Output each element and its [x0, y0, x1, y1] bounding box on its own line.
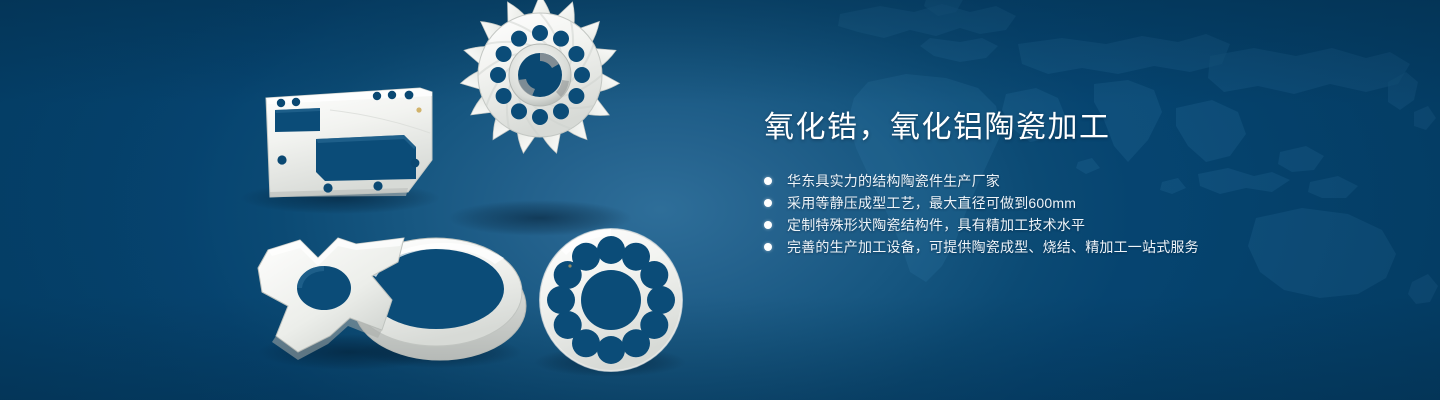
list-item-label: 定制特殊形状陶瓷结构件，具有精加工技术水平: [787, 217, 1085, 233]
list-item: 定制特殊形状陶瓷结构件，具有精加工技术水平: [764, 214, 1384, 236]
list-item-label: 华东具实力的结构陶瓷件生产厂家: [787, 173, 1000, 189]
list-item: 华东具实力的结构陶瓷件生产厂家: [764, 170, 1384, 192]
bullet-dot-icon: [764, 243, 772, 251]
page-title: 氧化锆，氧化铝陶瓷加工: [764, 108, 1384, 148]
list-item: 采用等静压成型工艺，最大直径可做到600mm: [764, 192, 1384, 214]
bullet-dot-icon: [764, 177, 772, 185]
promo-banner: 氧化锆，氧化铝陶瓷加工 华东具实力的结构陶瓷件生产厂家 采用等静压成型工艺，最大…: [0, 0, 1440, 400]
bullet-dot-icon: [764, 199, 772, 207]
banner-copy: 氧化锆，氧化铝陶瓷加工 华东具实力的结构陶瓷件生产厂家 采用等静压成型工艺，最大…: [764, 108, 1384, 258]
feature-list: 华东具实力的结构陶瓷件生产厂家 采用等静压成型工艺，最大直径可做到600mm 定…: [764, 170, 1384, 258]
list-item-label: 采用等静压成型工艺，最大直径可做到600mm: [787, 195, 1076, 211]
list-item: 完善的生产加工设备，可提供陶瓷成型、烧结、精加工一站式服务: [764, 236, 1384, 258]
bullet-dot-icon: [764, 221, 772, 229]
list-item-label: 完善的生产加工设备，可提供陶瓷成型、烧结、精加工一站式服务: [787, 239, 1199, 255]
